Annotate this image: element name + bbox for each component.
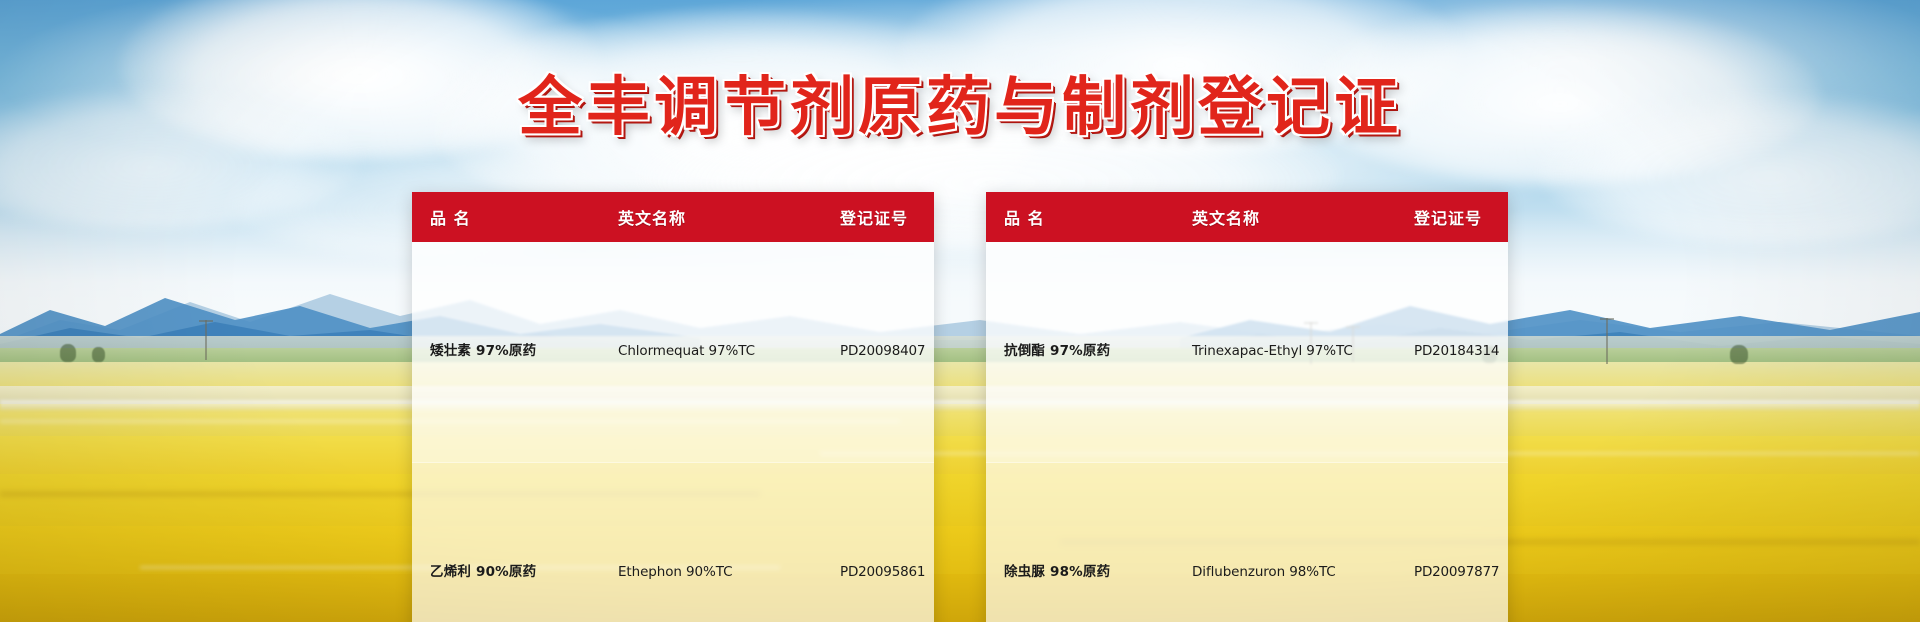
cell-english-name: Trinexapac-Ethyl 97%TC [1192,242,1414,462]
cell-product-name: 抗倒酯 97%原药 [986,242,1192,462]
table-header-row: 品 名 英文名称 登记证号 [986,192,1508,242]
column-header-product-name: 品 名 [986,192,1192,242]
cell-english-name: Chlormequat 97%TC [618,242,840,462]
registration-tables: 品 名 英文名称 登记证号 矮壮素 97%原药 Chlormequat 97%T… [0,192,1920,622]
cell-product-name: 除虫脲 98%原药 [986,462,1192,622]
cell-product-name: 乙烯利 90%原药 [412,462,618,622]
column-header-product-name: 品 名 [412,192,618,242]
cell-english-name: Ethephon 90%TC [618,462,840,622]
cell-product-name: 矮壮素 97%原药 [412,242,618,462]
table-row: 乙烯利 90%原药 Ethephon 90%TC PD20095861 [412,462,934,622]
table-row: 除虫脲 98%原药 Diflubenzuron 98%TC PD20097877 [986,462,1508,622]
technical-materials-body: 矮壮素 97%原药 Chlormequat 97%TC PD20098407 乙… [412,242,934,622]
cell-english-name: Diflubenzuron 98%TC [1192,462,1414,622]
column-header-registration-no: 登记证号 [840,192,934,242]
technical-materials-table: 品 名 英文名称 登记证号 矮壮素 97%原药 Chlormequat 97%T… [412,192,934,622]
cell-registration-no: PD20184314 [1414,242,1508,462]
table-row: 矮壮素 97%原药 Chlormequat 97%TC PD20098407 [412,242,934,462]
cell-registration-no: PD20098407 [840,242,934,462]
column-header-registration-no: 登记证号 [1414,192,1508,242]
cell-registration-no: PD20097877 [1414,462,1508,622]
column-header-english-name: 英文名称 [1192,192,1414,242]
cell-registration-no: PD20095861 [840,462,934,622]
column-header-english-name: 英文名称 [618,192,840,242]
page-title: 全丰调节剂原药与制剂登记证 [518,56,1402,148]
table-row: 抗倒酯 97%原药 Trinexapac-Ethyl 97%TC PD20184… [986,242,1508,462]
formulations-body: 抗倒酯 97%原药 Trinexapac-Ethyl 97%TC PD20184… [986,242,1508,622]
page-title-container: 全丰调节剂原药与制剂登记证 [0,56,1920,148]
formulations-table: 品 名 英文名称 登记证号 抗倒酯 97%原药 Trinexapac-Ethyl… [986,192,1508,622]
table-header-row: 品 名 英文名称 登记证号 [412,192,934,242]
